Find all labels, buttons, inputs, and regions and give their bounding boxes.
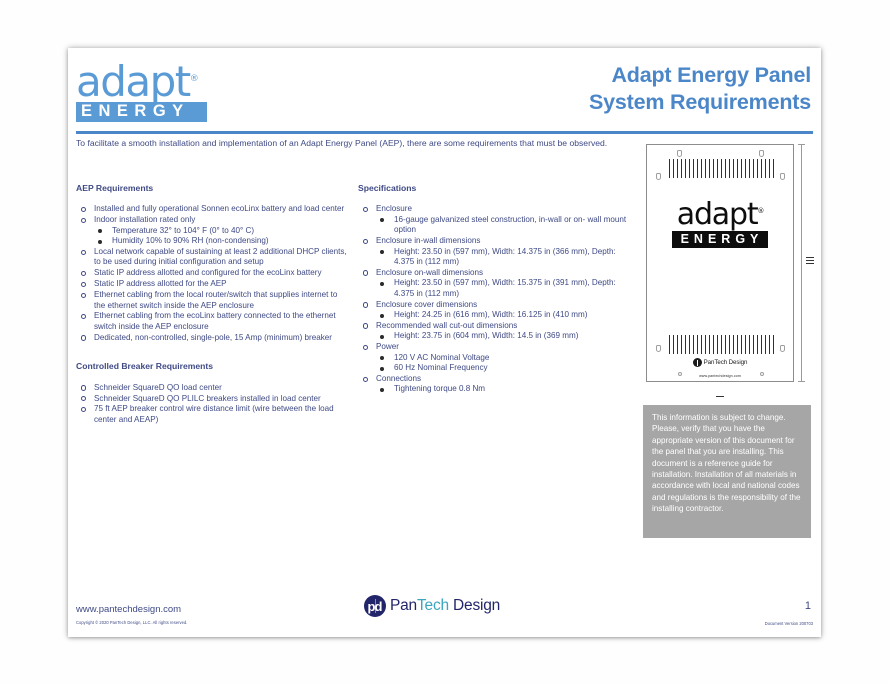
pantech-mark-small: PanTech Design <box>693 358 748 367</box>
panel-faceplate-logo: adapt® ENERGY <box>647 197 793 248</box>
section-heading-controlled-breaker: Controlled Breaker Requirements <box>76 361 348 371</box>
document-version: Document Version 200703 <box>765 621 813 626</box>
list-item-text: 75 ft AEP breaker control wire distance … <box>94 404 348 425</box>
list-item: Ethernet cabling from the local router/s… <box>76 290 348 311</box>
sub-list: Height: 23.50 in (597 mm), Width: 15.375… <box>376 278 630 299</box>
wordmark-pan: Pan <box>390 597 417 614</box>
sub-list: Temperature 32° to 104° F (0° to 40° C)H… <box>94 226 348 247</box>
side-detail-marks-icon <box>806 257 814 264</box>
screw-icon-top-left <box>677 150 682 157</box>
screw-icon-top-right <box>759 150 764 157</box>
panel-footer-brand-text: PanTech Design <box>704 359 748 366</box>
page-title-line2: System Requirements <box>589 89 811 116</box>
enclosure-outline: adapt® ENERGY PanTech Design www.pantech… <box>646 144 794 382</box>
list-item-text: Local network capable of sustaining at l… <box>94 247 348 268</box>
sub-list-item: Height: 23.75 in (604 mm), Width: 14.5 i… <box>376 331 630 341</box>
list-item-text: Indoor installation rated only <box>94 215 348 225</box>
list-item: 75 ft AEP breaker control wire distance … <box>76 404 348 425</box>
sub-list: 16-gauge galvanized steel construction, … <box>376 215 630 236</box>
monogram-letter-d: d <box>375 599 383 614</box>
panel-registered-trademark-icon: ® <box>757 207 763 215</box>
list-item-text: Installed and fully operational Sonnen e… <box>94 204 348 214</box>
adapt-energy-logo: adapt® ENERGY <box>76 59 226 122</box>
footer-website-url[interactable]: www.pantechdesign.com <box>76 604 181 615</box>
sub-list-item: 16-gauge galvanized steel construction, … <box>376 215 630 236</box>
registered-trademark-icon: ® <box>190 74 199 84</box>
dimension-line-vertical <box>801 144 802 382</box>
controlled-breaker-list: Schneider SquareD QO load centerSchneide… <box>76 383 348 426</box>
list-item-text: Connections <box>376 374 630 384</box>
header-divider <box>76 131 813 134</box>
screw-icon-bottom-right <box>780 345 785 352</box>
pantech-design-wordmark: PanTech Design <box>390 597 500 615</box>
list-item-text: Schneider SquareD QO load center <box>94 383 348 393</box>
list-item-text: Enclosure in-wall dimensions <box>376 236 630 246</box>
list-item-text: Enclosure cover dimensions <box>376 300 630 310</box>
list-item: Local network capable of sustaining at l… <box>76 247 348 268</box>
list-item: Enclosure cover dimensionsHeight: 24.25 … <box>358 300 630 321</box>
sub-list-item: 120 V AC Nominal Voltage <box>376 353 630 363</box>
list-item: Indoor installation rated onlyTemperatur… <box>76 215 348 246</box>
document-page: adapt® ENERGY Adapt Energy Panel System … <box>68 48 821 637</box>
page-title-line1: Adapt Energy Panel <box>589 62 811 89</box>
list-item-text: Schneider SquareD QO PLILC breakers inst… <box>94 394 348 404</box>
wordmark-tech: Tech <box>417 597 449 614</box>
sub-list: Height: 23.75 in (604 mm), Width: 14.5 i… <box>376 331 630 341</box>
list-item-text: Ethernet cabling from the ecoLinx batter… <box>94 311 348 332</box>
aep-requirements-list: Installed and fully operational Sonnen e… <box>76 204 348 343</box>
list-item-text: Static IP address allotted and configure… <box>94 268 348 278</box>
page-number: 1 <box>805 600 811 612</box>
list-item: Enclosure on-wall dimensionsHeight: 23.5… <box>358 268 630 299</box>
vent-slots-top-icon <box>669 159 775 178</box>
pantech-design-logo: p d PanTech Design <box>364 595 500 617</box>
list-item-text: Enclosure <box>376 204 630 214</box>
list-item-text: Power <box>376 342 630 352</box>
list-item: Installed and fully operational Sonnen e… <box>76 204 348 214</box>
list-item: ConnectionsTightening torque 0.8 Nm <box>358 374 630 395</box>
pantech-circle-icon <box>693 358 702 367</box>
enclosure-drawing: adapt® ENERGY PanTech Design www.pantech… <box>640 140 814 387</box>
right-column: Specifications Enclosure16-gauge galvani… <box>358 183 630 395</box>
sub-list-item: Humidity 10% to 90% RH (non-condensing) <box>94 236 348 246</box>
panel-footer-url: www.pantechdesign.com <box>647 374 793 378</box>
list-item: Dedicated, non-controlled, single-pole, … <box>76 333 348 343</box>
list-item: Power120 V AC Nominal Voltage60 Hz Nomin… <box>358 342 630 373</box>
wordmark-design: Design <box>449 597 500 614</box>
footer-copyright: Copyright © 2020 PanTech Design, LLC. Al… <box>76 620 188 625</box>
list-item-text: Recommended wall cut-out dimensions <box>376 321 630 331</box>
section-heading-aep-requirements: AEP Requirements <box>76 183 348 193</box>
list-item: Enclosure in-wall dimensionsHeight: 23.5… <box>358 236 630 267</box>
page-header: adapt® ENERGY Adapt Energy Panel System … <box>68 48 821 131</box>
sub-list-item: Height: 24.25 in (616 mm), Width: 16.125… <box>376 310 630 320</box>
panel-logo-wordmark: adapt® <box>647 197 793 229</box>
list-item-text: Dedicated, non-controlled, single-pole, … <box>94 333 348 343</box>
left-column: AEP Requirements Installed and fully ope… <box>76 183 348 426</box>
list-item: Static IP address allotted for the AEP <box>76 279 348 289</box>
screw-icon-mid-right <box>780 173 785 180</box>
sub-list-item: Height: 23.50 in (597 mm), Width: 15.375… <box>376 278 630 299</box>
list-item-text: Static IP address allotted for the AEP <box>94 279 348 289</box>
vent-slots-bottom-icon <box>669 335 775 354</box>
specifications-list: Enclosure16-gauge galvanized steel const… <box>358 204 630 394</box>
logo-wordmark: adapt® <box>76 59 226 101</box>
screenshot-canvas: adapt® ENERGY Adapt Energy Panel System … <box>0 0 889 685</box>
sub-list-item: 60 Hz Nominal Frequency <box>376 363 630 373</box>
list-item-text: Ethernet cabling from the local router/s… <box>94 290 348 311</box>
list-item: Ethernet cabling from the ecoLinx batter… <box>76 311 348 332</box>
sub-list: Height: 24.25 in (616 mm), Width: 16.125… <box>376 310 630 320</box>
screw-icon-mid-left <box>656 173 661 180</box>
sub-list: Tightening torque 0.8 Nm <box>376 384 630 394</box>
list-item-text: Enclosure on-wall dimensions <box>376 268 630 278</box>
intro-paragraph: To facilitate a smooth installation and … <box>76 138 621 150</box>
section-heading-specifications: Specifications <box>358 183 630 193</box>
list-item: Static IP address allotted and configure… <box>76 268 348 278</box>
list-item: Schneider SquareD QO PLILC breakers inst… <box>76 394 348 404</box>
sub-list: 120 V AC Nominal Voltage60 Hz Nominal Fr… <box>376 353 630 374</box>
list-item: Recommended wall cut-out dimensionsHeigh… <box>358 321 630 342</box>
list-item: Enclosure16-gauge galvanized steel const… <box>358 204 630 235</box>
logo-wordmark-text: adapt <box>76 57 190 106</box>
screw-icon-bottom-left <box>656 345 661 352</box>
list-item: Schneider SquareD QO load center <box>76 383 348 393</box>
panel-logo-wordmark-text: adapt <box>677 197 758 232</box>
sub-list-item: Tightening torque 0.8 Nm <box>376 384 630 394</box>
sub-list-item: Height: 23.50 in (597 mm), Width: 14.375… <box>376 247 630 268</box>
disclaimer-notice: This information is subject to change. P… <box>643 405 811 538</box>
pantech-pd-monogram-icon: p d <box>364 595 386 617</box>
sub-list: Height: 23.50 in (597 mm), Width: 14.375… <box>376 247 630 268</box>
page-title: Adapt Energy Panel System Requirements <box>589 62 811 116</box>
panel-logo-energy-band: ENERGY <box>672 231 768 248</box>
panel-footer-brand-block: PanTech Design www.pantechdesign.com <box>647 354 793 378</box>
sub-list-item: Temperature 32° to 104° F (0° to 40° C) <box>94 226 348 236</box>
